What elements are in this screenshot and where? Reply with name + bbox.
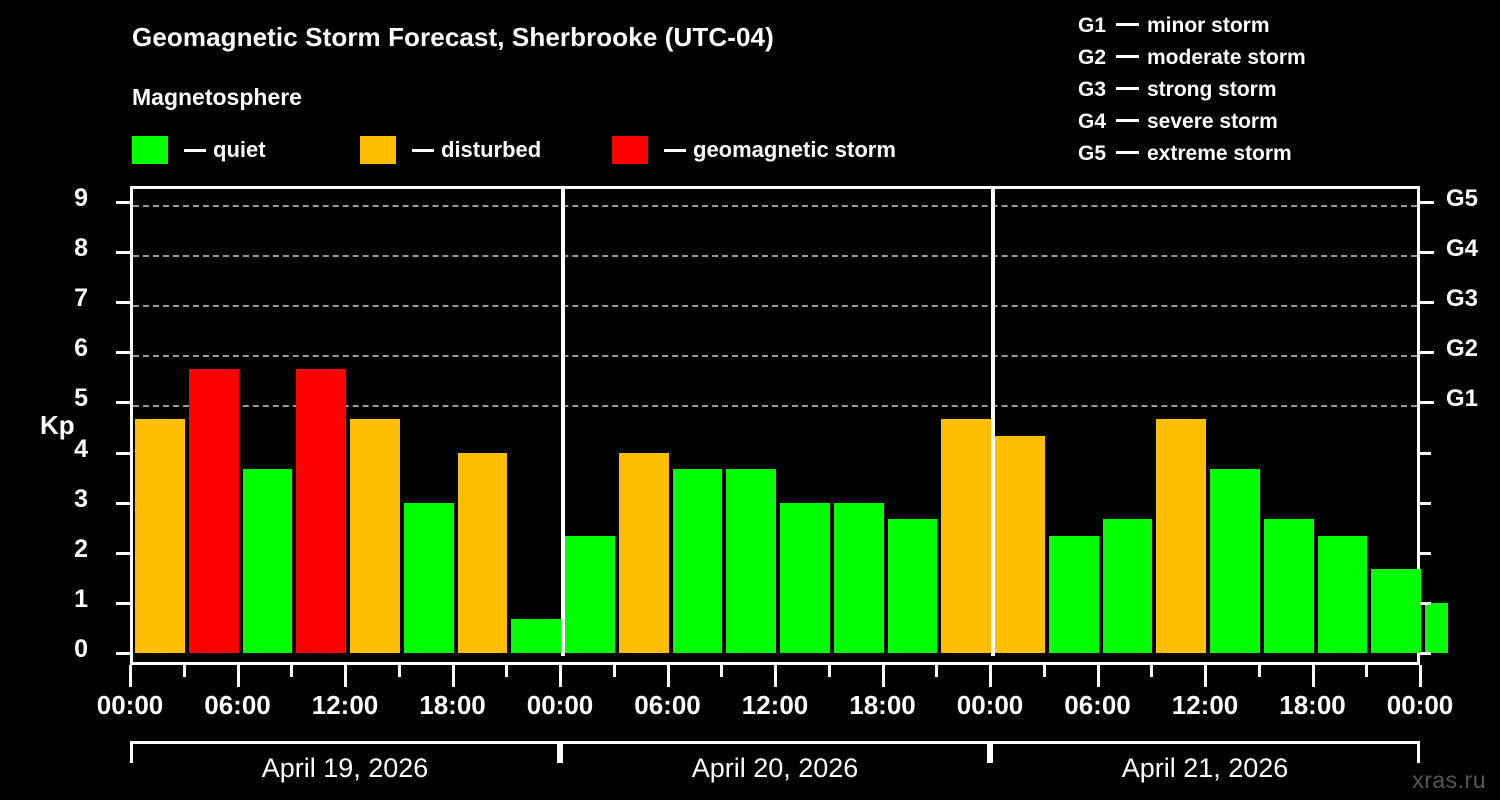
y-tick-label: 1 bbox=[48, 587, 88, 612]
gridline-kp-9 bbox=[133, 205, 1417, 207]
gscale-dash-icon bbox=[1116, 119, 1139, 122]
g-tick-mark bbox=[1420, 301, 1434, 304]
legend-dash-icon bbox=[664, 149, 686, 152]
bar bbox=[673, 469, 723, 653]
gscale-row-G4: G4severe storm bbox=[1078, 110, 1306, 142]
bar bbox=[404, 503, 454, 653]
x-tick-major bbox=[559, 665, 562, 687]
x-tick-major bbox=[1204, 665, 1207, 687]
x-tick-label: 00:00 bbox=[957, 690, 1024, 721]
bar bbox=[511, 619, 561, 653]
x-tick-label: 18:00 bbox=[849, 690, 916, 721]
gscale-dash-icon bbox=[1116, 55, 1139, 58]
day-divider bbox=[561, 186, 565, 656]
gridline-kp-6 bbox=[133, 355, 1417, 357]
x-tick-minor bbox=[720, 665, 723, 677]
bar bbox=[888, 519, 938, 653]
x-tick-major bbox=[667, 665, 670, 687]
y-tick-label: 9 bbox=[48, 186, 88, 211]
watermark: xras.ru bbox=[1412, 767, 1486, 794]
bar bbox=[1425, 603, 1448, 653]
x-tick-major bbox=[882, 665, 885, 687]
right-minor-tick bbox=[1420, 502, 1431, 505]
day-label: April 19, 2026 bbox=[262, 753, 429, 784]
bar bbox=[350, 419, 400, 653]
disturbed-swatch bbox=[360, 136, 396, 164]
bar bbox=[941, 419, 991, 653]
gscale-description: moderate storm bbox=[1147, 46, 1306, 70]
day-bracket bbox=[560, 741, 990, 744]
y-tick-mark bbox=[116, 602, 130, 605]
gscale-dash-icon bbox=[1116, 87, 1139, 90]
day-bracket bbox=[990, 741, 1420, 744]
g-tick-mark bbox=[1420, 251, 1434, 254]
x-tick-major bbox=[1419, 665, 1422, 687]
y-tick-label: 5 bbox=[48, 386, 88, 411]
legend-label: geomagnetic storm bbox=[693, 137, 896, 163]
g-tick-mark bbox=[1420, 351, 1434, 354]
gridline-kp-8 bbox=[133, 255, 1417, 257]
x-tick-major bbox=[1312, 665, 1315, 687]
gscale-code: G5 bbox=[1078, 142, 1114, 166]
x-tick-minor bbox=[613, 665, 616, 677]
gscale-dash-icon bbox=[1116, 23, 1139, 26]
day-bracket-cap bbox=[560, 741, 563, 763]
x-tick-minor bbox=[935, 665, 938, 677]
legend-entry-geomagnetic-storm: geomagnetic storm bbox=[612, 134, 896, 166]
bar bbox=[1210, 469, 1260, 653]
legend-dash-icon bbox=[184, 149, 206, 152]
bar bbox=[1371, 569, 1421, 653]
gscale-row-G5: G5extreme storm bbox=[1078, 142, 1306, 174]
y-tick-mark bbox=[116, 401, 130, 404]
bar bbox=[565, 536, 615, 653]
day-bracket-cap bbox=[1417, 741, 1420, 763]
x-tick-major bbox=[344, 665, 347, 687]
day-bracket-cap bbox=[130, 741, 133, 763]
gscale-description: extreme storm bbox=[1147, 142, 1292, 166]
legend-label: disturbed bbox=[441, 137, 541, 163]
x-tick-major bbox=[1097, 665, 1100, 687]
gscale-description: strong storm bbox=[1147, 78, 1277, 102]
gscale-description: minor storm bbox=[1147, 14, 1270, 38]
x-tick-minor bbox=[828, 665, 831, 677]
gridline-kp-7 bbox=[133, 305, 1417, 307]
g-tick-mark bbox=[1420, 401, 1434, 404]
g-tick-label: G5 bbox=[1446, 187, 1478, 211]
x-tick-label: 18:00 bbox=[1279, 690, 1346, 721]
y-tick-mark bbox=[116, 452, 130, 455]
right-minor-tick bbox=[1420, 452, 1431, 455]
legend-entry-disturbed: disturbed bbox=[360, 134, 541, 166]
x-tick-label: 06:00 bbox=[634, 690, 701, 721]
x-tick-major bbox=[237, 665, 240, 687]
x-tick-label: 12:00 bbox=[1172, 690, 1239, 721]
gscale-code: G2 bbox=[1078, 46, 1114, 70]
x-tick-label: 12:00 bbox=[312, 690, 379, 721]
right-minor-tick bbox=[1420, 652, 1431, 655]
page-title: Geomagnetic Storm Forecast, Sherbrooke (… bbox=[132, 22, 774, 53]
day-divider bbox=[991, 186, 995, 656]
y-tick-mark bbox=[116, 251, 130, 254]
legend-entry-quiet: quiet bbox=[132, 134, 266, 166]
x-tick-label: 00:00 bbox=[1387, 690, 1454, 721]
x-tick-label: 12:00 bbox=[742, 690, 809, 721]
y-tick-label: 7 bbox=[48, 286, 88, 311]
y-tick-mark bbox=[116, 652, 130, 655]
x-tick-label: 06:00 bbox=[204, 690, 271, 721]
y-tick-mark bbox=[116, 201, 130, 204]
gscale-code: G1 bbox=[1078, 14, 1114, 38]
gscale-code: G4 bbox=[1078, 110, 1114, 134]
x-tick-label: 06:00 bbox=[1064, 690, 1131, 721]
bar bbox=[1318, 536, 1368, 653]
day-label: April 20, 2026 bbox=[692, 753, 859, 784]
x-tick-major bbox=[129, 665, 132, 687]
x-tick-minor bbox=[398, 665, 401, 677]
y-tick-label: 8 bbox=[48, 236, 88, 261]
x-tick-label: 00:00 bbox=[97, 690, 164, 721]
x-tick-label: 00:00 bbox=[527, 690, 594, 721]
y-tick-label: 6 bbox=[48, 336, 88, 361]
legend-dash-icon bbox=[412, 149, 434, 152]
right-minor-tick bbox=[1420, 602, 1431, 605]
x-tick-minor bbox=[1043, 665, 1046, 677]
bar bbox=[1049, 536, 1099, 653]
bar bbox=[1103, 519, 1153, 653]
gscale-legend: G1minor stormG2moderate stormG3strong st… bbox=[1078, 14, 1306, 174]
day-label: April 21, 2026 bbox=[1122, 753, 1289, 784]
gscale-row-G3: G3strong storm bbox=[1078, 78, 1306, 110]
g-tick-label: G1 bbox=[1446, 387, 1478, 411]
day-bracket-cap bbox=[990, 741, 993, 763]
y-tick-mark bbox=[116, 552, 130, 555]
gscale-code: G3 bbox=[1078, 78, 1114, 102]
magnetosphere-subtitle: Magnetosphere bbox=[132, 84, 302, 111]
legend-label: quiet bbox=[213, 137, 266, 163]
x-tick-minor bbox=[1365, 665, 1368, 677]
bar bbox=[995, 436, 1045, 653]
bar bbox=[834, 503, 884, 653]
bar bbox=[619, 453, 669, 653]
x-tick-minor bbox=[1258, 665, 1261, 677]
chart-canvas: Geomagnetic Storm Forecast, Sherbrooke (… bbox=[0, 0, 1500, 800]
x-tick-minor bbox=[290, 665, 293, 677]
gscale-description: severe storm bbox=[1147, 110, 1278, 134]
quiet-swatch bbox=[132, 136, 168, 164]
x-tick-minor bbox=[1150, 665, 1153, 677]
bar bbox=[135, 419, 185, 653]
x-tick-major bbox=[452, 665, 455, 687]
y-tick-mark bbox=[116, 301, 130, 304]
gscale-dash-icon bbox=[1116, 151, 1139, 154]
y-tick-label: 4 bbox=[48, 437, 88, 462]
bar bbox=[243, 469, 293, 653]
bar bbox=[780, 503, 830, 653]
day-bracket bbox=[130, 741, 560, 744]
x-tick-minor bbox=[183, 665, 186, 677]
bar bbox=[726, 469, 776, 653]
x-tick-major bbox=[774, 665, 777, 687]
g-tick-label: G4 bbox=[1446, 237, 1478, 261]
bar bbox=[1264, 519, 1314, 653]
storm-swatch bbox=[612, 136, 648, 164]
bar bbox=[189, 369, 239, 653]
gscale-row-G1: G1minor storm bbox=[1078, 14, 1306, 46]
g-tick-mark bbox=[1420, 201, 1434, 204]
x-tick-minor bbox=[505, 665, 508, 677]
bar bbox=[458, 453, 508, 653]
y-tick-mark bbox=[116, 351, 130, 354]
bar bbox=[1156, 419, 1206, 653]
gscale-row-G2: G2moderate storm bbox=[1078, 46, 1306, 78]
g-tick-label: G3 bbox=[1446, 287, 1478, 311]
right-minor-tick bbox=[1420, 552, 1431, 555]
x-tick-major bbox=[989, 665, 992, 687]
y-tick-label: 0 bbox=[48, 637, 88, 662]
bar bbox=[296, 369, 346, 653]
g-tick-label: G2 bbox=[1446, 337, 1478, 361]
plot-area bbox=[130, 186, 1420, 665]
x-tick-label: 18:00 bbox=[419, 690, 486, 721]
y-tick-mark bbox=[116, 502, 130, 505]
y-tick-label: 3 bbox=[48, 487, 88, 512]
y-tick-label: 2 bbox=[48, 537, 88, 562]
